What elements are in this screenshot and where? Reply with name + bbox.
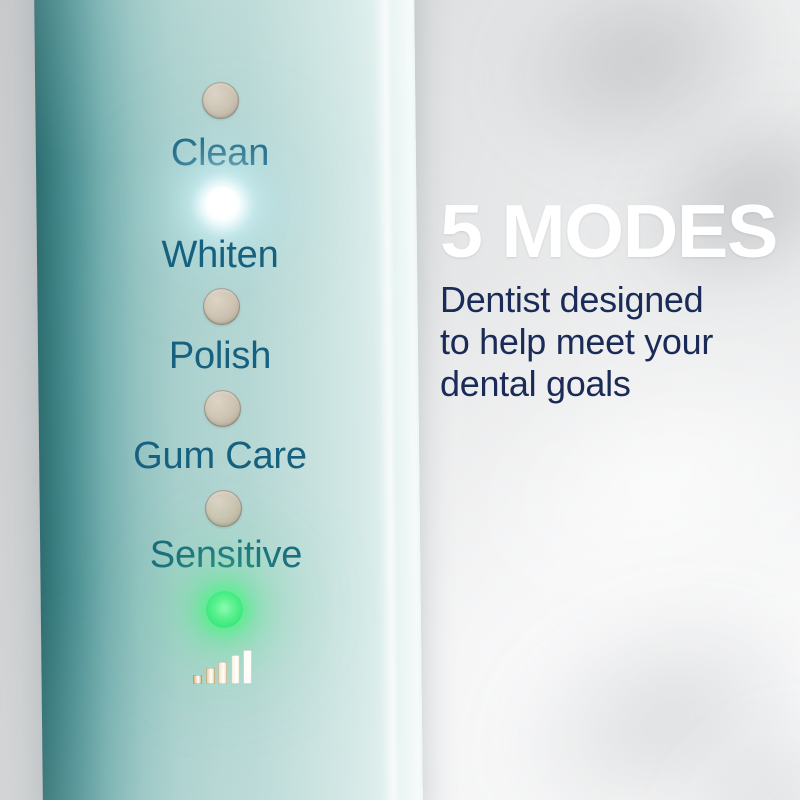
battery-bar-1	[193, 675, 202, 684]
battery-bar-5	[243, 650, 252, 684]
mode-indicator-sensitive[interactable]	[205, 490, 242, 527]
mode-indicator-whiten[interactable]	[204, 186, 241, 223]
battery-bar-2	[206, 668, 215, 684]
dot-active-icon	[204, 186, 241, 223]
subheadline-line: to help meet your	[440, 321, 790, 363]
product-marketing-image: Clean Whiten Polish Gum Care Sensitive 5…	[0, 0, 800, 800]
subheadline: Dentist designed to help meet your denta…	[440, 279, 790, 405]
mode-label-sensitive: Sensitive	[0, 536, 452, 574]
dot-inactive-icon	[202, 82, 239, 119]
mode-label-clean: Clean	[0, 134, 440, 172]
battery-level-indicator	[193, 650, 265, 684]
subheadline-line: dental goals	[440, 363, 790, 405]
headline-5-modes: 5 MODES	[440, 200, 800, 263]
power-led-indicator[interactable]	[206, 591, 243, 628]
mode-indicator-polish[interactable]	[203, 288, 240, 325]
mode-label-polish: Polish	[0, 337, 440, 375]
dot-inactive-icon	[205, 490, 242, 527]
dot-inactive-icon	[203, 288, 240, 325]
marketing-copy: 5 MODES Dentist designed to help meet yo…	[440, 200, 790, 405]
battery-bar-4	[231, 655, 240, 684]
battery-bar-3	[218, 662, 227, 684]
dot-inactive-icon	[204, 390, 241, 427]
mode-label-whiten: Whiten	[0, 236, 440, 274]
subheadline-line: Dentist designed	[440, 279, 790, 321]
mode-label-gum-care: Gum Care	[0, 437, 440, 475]
power-led-icon	[206, 591, 243, 628]
mode-indicator-gum-care[interactable]	[204, 390, 241, 427]
mode-indicator-clean[interactable]	[202, 82, 239, 119]
